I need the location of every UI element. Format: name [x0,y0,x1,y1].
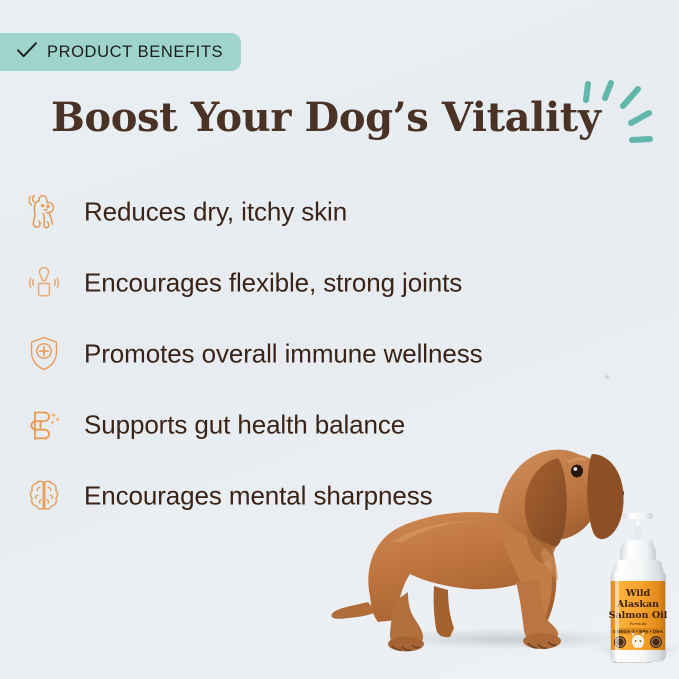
list-item: Promotes overall immune wellness [0,318,679,389]
svg-text:Formula: Formula [629,621,648,626]
dachshund-photo [330,396,630,661]
intestine-icon [22,403,66,447]
list-item: Reduces dry, itchy skin [0,176,679,247]
list-item-label: Promotes overall immune wellness [84,338,483,369]
svg-text:OMEGA-3 • EPA • DHA: OMEGA-3 • EPA • DHA [613,629,663,634]
salmon-oil-bottle: Wild Alaskan Salmon Oil Formula OMEGA-3 … [598,504,678,669]
shield-cross-icon [22,332,66,376]
svg-text:Alaskan: Alaskan [616,599,659,610]
page-title: Boost Your Dog’s Vitality [51,94,601,141]
svg-text:Wild: Wild [625,588,651,599]
product-benefits-badge: PRODUCT BENEFITS [0,33,241,71]
badge-label: PRODUCT BENEFITS [47,43,223,62]
joint-bone-icon [22,261,66,305]
dog-scratching-icon [22,190,66,234]
product-photo: Wild Alaskan Salmon Oil Formula OMEGA-3 … [330,396,679,679]
list-item-label: Reduces dry, itchy skin [84,196,347,227]
product-benefits-graphic: PRODUCT BENEFITS Boost Your Dog’s Vitali… [0,0,679,679]
brain-icon [22,474,66,518]
list-item: Encourages flexible, strong joints [0,247,679,318]
sparkle-lines-icon [578,78,656,148]
list-item-label: Encourages flexible, strong joints [84,267,462,298]
check-icon [16,41,38,64]
